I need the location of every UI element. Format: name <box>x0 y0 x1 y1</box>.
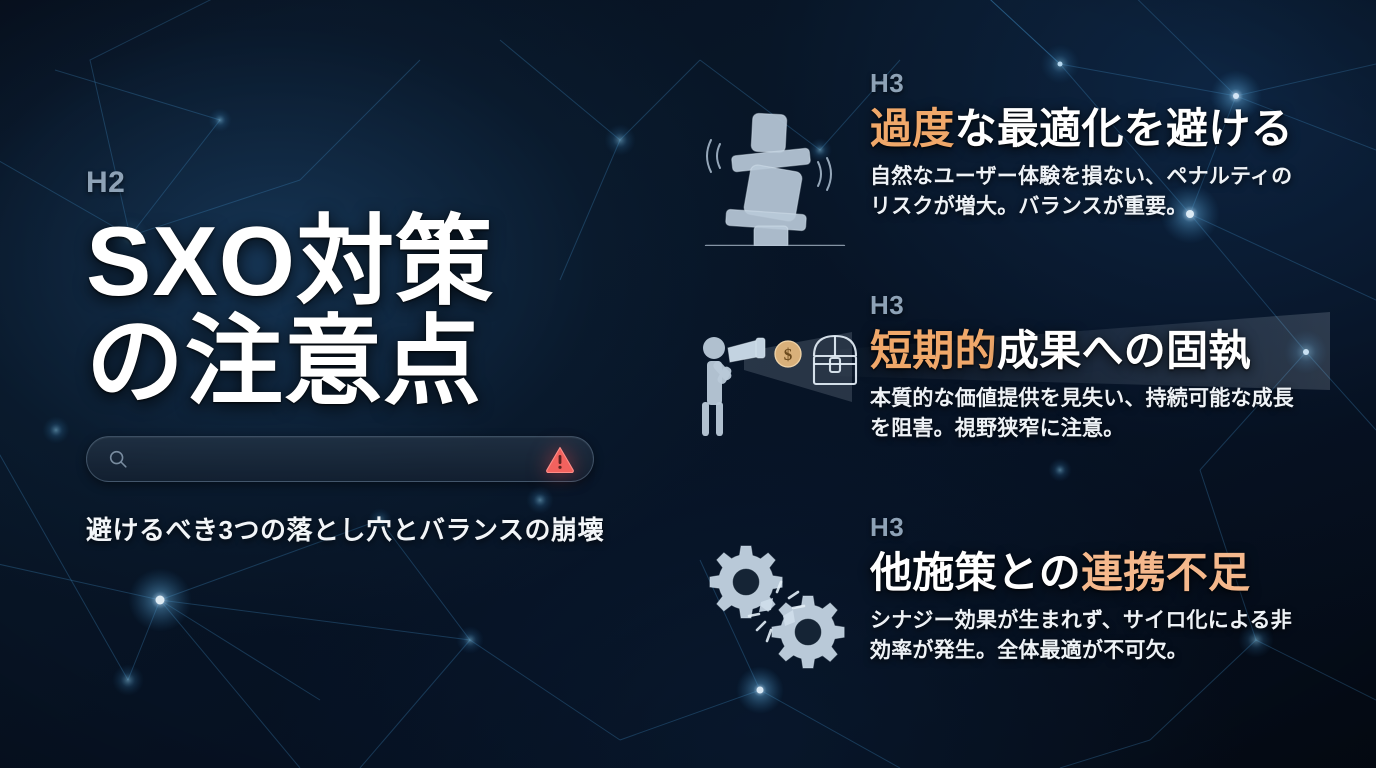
point-text: H3 過度な最適化を避ける 自然なユーザー体験を損ない、ペナルティのリスクが増大… <box>870 68 1340 222</box>
h3-tag-label: H3 <box>870 70 1340 96</box>
subtitle: 避けるべき3つの落とし穴とバランスの崩壊 <box>86 510 606 547</box>
right-column: H3 過度な最適化を避ける 自然なユーザー体験を損ない、ペナルティのリスクが増大… <box>680 68 1340 712</box>
slide-root: H2 SXO対策 の注意点 避けるべき3つの落とし穴とバランスの崩壊 <box>0 0 1376 768</box>
point-description: 自然なユーザー体験を損ない、ペナルティのリスクが増大。バランスが重要。 <box>870 162 1300 222</box>
point-item: H3 過度な最適化を避ける 自然なユーザー体験を損ない、ペナルティのリスクが増大… <box>680 68 1340 268</box>
h3-tag-label: H3 <box>870 514 1340 540</box>
point-heading-rest: 他施策との <box>870 549 1081 596</box>
point-heading-highlight: 短期的 <box>870 327 997 374</box>
search-bar[interactable] <box>86 436 594 482</box>
page-title-line-2: の注意点 <box>86 312 606 412</box>
h2-tag-label: H2 <box>86 168 606 198</box>
point-text: H3 他施策との連携不足 シナジー効果が生まれず、サイロ化による非効率が発生。全… <box>870 512 1340 666</box>
point-description: シナジー効果が生まれず、サイロ化による非効率が発生。全体最適が不可欠。 <box>870 606 1300 666</box>
point-heading-rest: な最適化を避ける <box>955 105 1293 152</box>
point-heading-rest: 成果への固執 <box>997 327 1251 374</box>
search-icon <box>107 448 129 470</box>
person-telescope-treasure-icon: $ <box>680 290 870 438</box>
disconnected-gears-icon <box>680 512 870 676</box>
point-heading: 短期的成果への固執 <box>870 327 1340 374</box>
point-description: 本質的な価値提供を見失い、持続可能な成長を阻害。視野狭窄に注意。 <box>870 384 1300 444</box>
h3-tag-label: H3 <box>870 292 1340 318</box>
point-heading-highlight: 連携不足 <box>1081 549 1250 596</box>
page-title: SXO対策 の注意点 <box>86 212 606 412</box>
point-item: $ H3 短期的成果への固執 本質的な価値提供を見失い、持続可能な成長を阻害。視… <box>680 290 1340 490</box>
warning-triangle-icon[interactable] <box>543 442 577 476</box>
point-item: H3 他施策との連携不足 シナジー効果が生まれず、サイロ化による非効率が発生。全… <box>680 512 1340 712</box>
page-title-line-1: SXO対策 <box>86 212 606 312</box>
point-heading-highlight: 過度 <box>870 105 955 152</box>
point-heading: 過度な最適化を避ける <box>870 105 1340 152</box>
unstable-stacked-blocks-icon <box>680 68 870 246</box>
point-text: H3 短期的成果への固執 本質的な価値提供を見失い、持続可能な成長を阻害。視野狭… <box>870 290 1340 444</box>
svg-text:$: $ <box>784 345 793 364</box>
left-column: H2 SXO対策 の注意点 避けるべき3つの落とし穴とバランスの崩壊 <box>86 168 606 547</box>
point-heading: 他施策との連携不足 <box>870 549 1340 596</box>
